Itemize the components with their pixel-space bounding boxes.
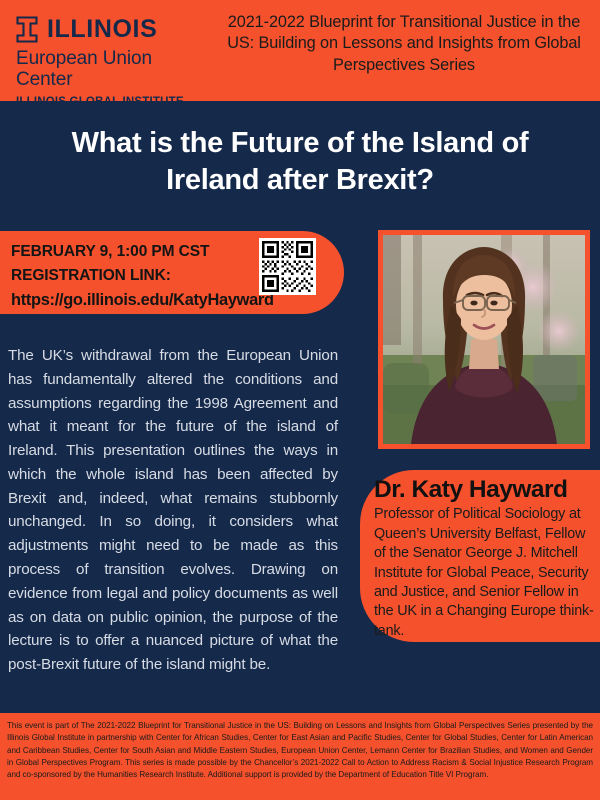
brand-lockup: ILLINOIS European Union Center ILLINOIS … xyxy=(0,0,212,108)
event-poster: ILLINOIS European Union Center ILLINOIS … xyxy=(0,0,600,800)
qr-code-icon[interactable] xyxy=(259,238,316,295)
brand-name: ILLINOIS xyxy=(47,17,157,42)
event-abstract: The UK’s withdrawal from the European Un… xyxy=(8,344,338,677)
poster-footer: This event is part of The 2021-2022 Blue… xyxy=(0,713,600,800)
speaker-bio: Professor of Political Sociology at Quee… xyxy=(374,505,596,641)
speaker-name: Dr. Katy Hayward xyxy=(374,476,596,503)
series-title: 2021-2022 Blueprint for Transitional Jus… xyxy=(212,0,600,76)
speaker-bio-panel: Dr. Katy Hayward Professor of Political … xyxy=(360,470,600,642)
brand-unit: European Union Center xyxy=(16,48,212,91)
speaker-portrait-photo xyxy=(383,235,585,444)
footer-sponsors-text: This event is part of The 2021-2022 Blue… xyxy=(7,720,593,781)
illinois-block-i-icon xyxy=(16,16,38,43)
headline-area: What is the Future of the Island of Irel… xyxy=(0,101,600,223)
speaker-photo-frame xyxy=(378,230,590,449)
brand-row: ILLINOIS xyxy=(16,16,212,43)
poster-header: ILLINOIS European Union Center ILLINOIS … xyxy=(0,0,600,101)
page-title: What is the Future of the Island of Irel… xyxy=(26,125,574,199)
